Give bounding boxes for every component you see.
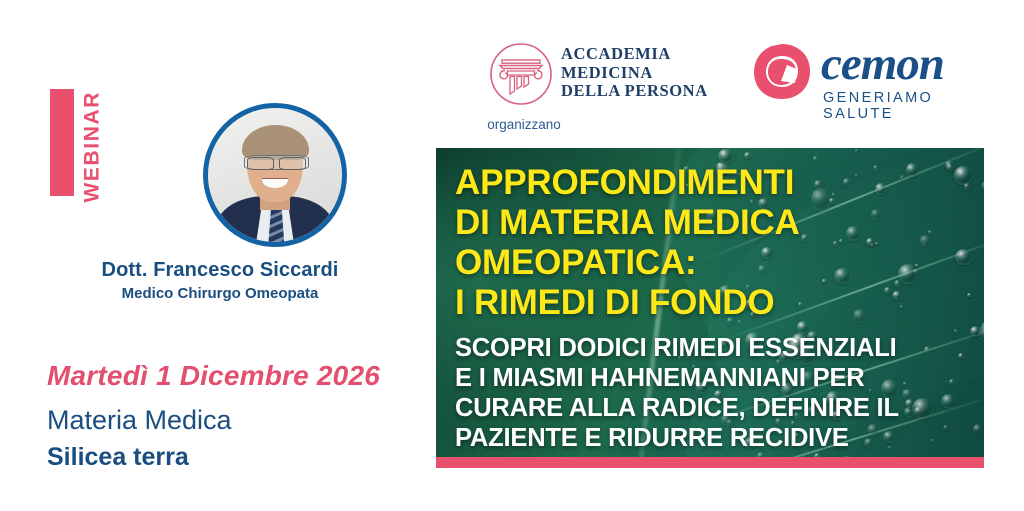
panel-title: APPROFONDIMENTI DI MATERIA MEDICA OMEOPA… xyxy=(455,163,975,323)
water-drop xyxy=(744,152,751,158)
event-remedy: Silicea terra xyxy=(47,443,189,472)
speaker-role: Medico Chirurgo Omeopata xyxy=(0,285,440,302)
webinar-accent-bar xyxy=(50,89,74,196)
panel-subtitle-line: PAZIENTE E RIDURRE RECIDIVE xyxy=(455,423,975,453)
organizers-note: organizzano xyxy=(0,117,1024,132)
panel-subtitle-line: SCOPRI DODICI RIMEDI ESSENZIALI xyxy=(455,333,975,363)
webinar-label: WEBINAR xyxy=(82,93,103,203)
panel-subtitle-line: E I MIASMI HAHNEMANNIANI PER xyxy=(455,363,975,393)
webinar-badge: WEBINAR xyxy=(50,89,170,199)
accademia-wordmark: ACCADEMIA MEDICINA DELLA PERSONA xyxy=(561,45,708,101)
portrait-tie xyxy=(268,210,284,242)
panel-title-line: I RIMEDI DI FONDO xyxy=(455,283,975,323)
panel-title-line: APPROFONDIMENTI xyxy=(455,163,975,203)
event-topic: Materia Medica xyxy=(47,405,232,436)
water-drop xyxy=(813,156,818,161)
cemon-circular-mark-icon xyxy=(751,42,813,102)
cemon-wordmark: cemon xyxy=(821,36,944,92)
event-date: Martedì 1 Dicembre 2026 xyxy=(47,360,380,392)
panel-subtitle: SCOPRI DODICI RIMEDI ESSENZIALI E I MIAS… xyxy=(455,333,975,453)
panel-subtitle-line: CURARE ALLA RADICE, DEFINIRE IL xyxy=(455,393,975,423)
organizers-note-text: organizzano xyxy=(487,117,561,132)
ionic-column-circle-icon xyxy=(489,42,553,106)
speaker-name: Dott. Francesco Siccardi xyxy=(0,259,440,282)
logo-accademia-medicina-della-persona: ACCADEMIA MEDICINA DELLA PERSONA xyxy=(489,40,719,110)
accademia-line-3: DELLA PERSONA xyxy=(561,82,708,101)
accademia-line-1: ACCADEMIA xyxy=(561,45,708,64)
glasses-icon xyxy=(244,155,309,170)
panel-title-line: OMEOPATICA: xyxy=(455,243,975,283)
panel-accent-bar xyxy=(436,457,984,468)
accademia-line-2: MEDICINA xyxy=(561,64,708,83)
panel-title-line: DI MATERIA MEDICA xyxy=(455,203,975,243)
logo-cemon: cemon GENERIAMO SALUTE xyxy=(751,38,976,110)
water-drop xyxy=(855,149,859,152)
